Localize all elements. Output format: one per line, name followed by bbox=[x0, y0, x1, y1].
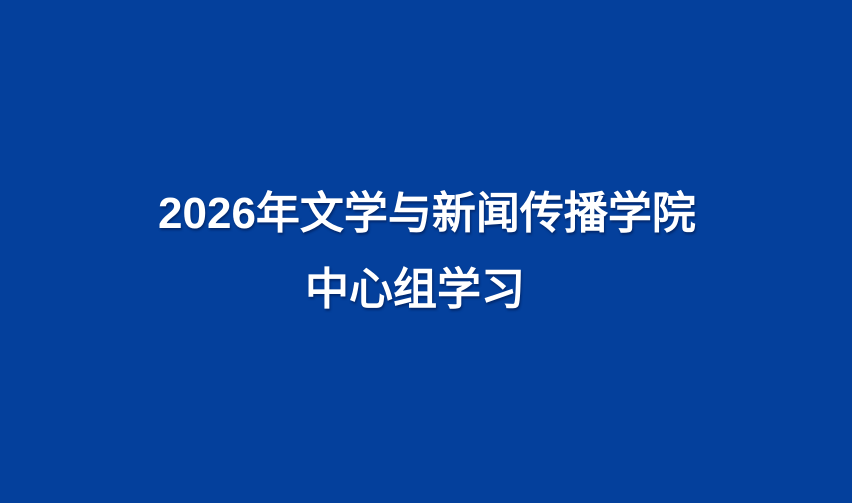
title-line-primary: 2026年文学与新闻传播学院 bbox=[1, 192, 852, 236]
title-line-secondary: 中心组学习 bbox=[0, 268, 841, 312]
title-block: 2026年文学与新闻传播学院 中心组学习 bbox=[0, 0, 852, 503]
title-slide: 2026年文学与新闻传播学院 中心组学习 bbox=[0, 0, 852, 503]
